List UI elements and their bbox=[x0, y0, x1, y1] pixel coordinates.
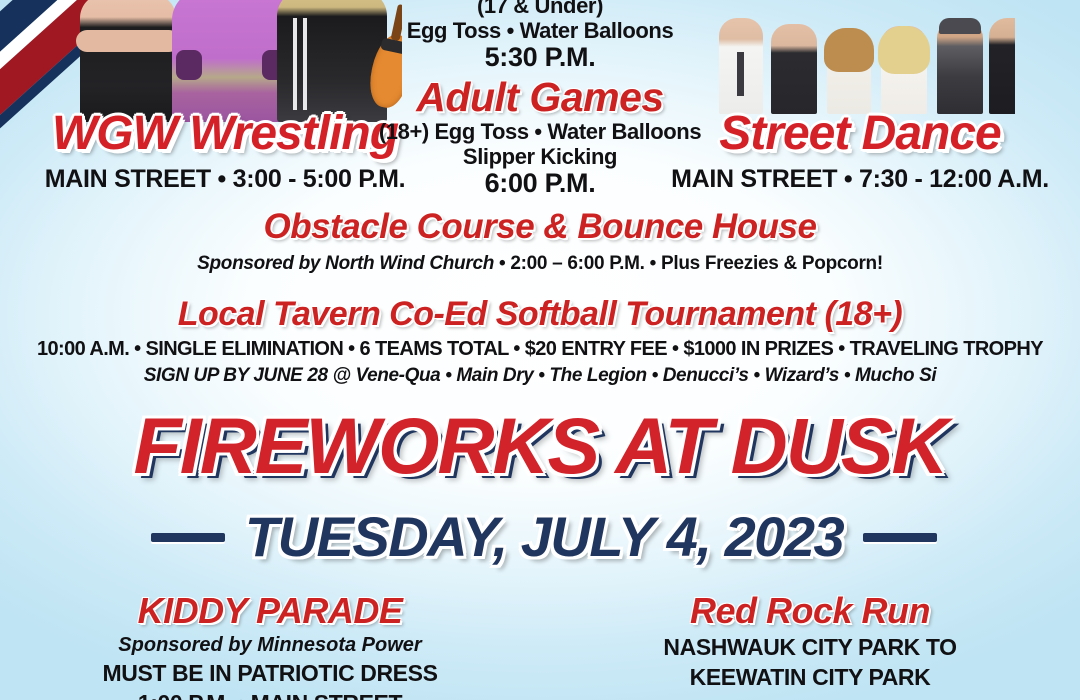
band-photo bbox=[715, 16, 1015, 114]
band-member-2 bbox=[771, 24, 817, 114]
event-poster: WGW Wrestling MAIN STREET • 3:00 - 5:00 … bbox=[0, 0, 1080, 700]
kiddy-parade-time: 1:00 P.M. • MAIN STREET bbox=[0, 690, 540, 700]
band-member-4 bbox=[881, 26, 927, 114]
flat-cap bbox=[939, 18, 981, 34]
obstacle-separator-2: • bbox=[650, 253, 656, 274]
kid-games-time: 5:30 P.M. bbox=[350, 43, 730, 73]
street-dance-section: Street Dance MAIN STREET • 7:30 - 12:00 … bbox=[640, 110, 1080, 194]
obstacle-course-details: Sponsored by North Wind Church • 2:00 – … bbox=[0, 253, 1080, 275]
red-rock-run-section: Red Rock Run NASHWAUK CITY PARK TO KEEWA… bbox=[540, 592, 1080, 700]
wrestler-arms bbox=[76, 30, 180, 52]
red-rock-run-line1: NASHWAUK CITY PARK TO bbox=[540, 634, 1080, 661]
wrestler-figure-2 bbox=[172, 0, 292, 122]
kiddy-parade-dress: MUST BE IN PATRIOTIC DRESS bbox=[0, 660, 540, 687]
obstacle-extra: Plus Freezies & Popcorn! bbox=[661, 253, 883, 274]
softball-signup: SIGN UP BY JUNE 28 @ Vene-Qua • Main Dry… bbox=[0, 365, 1080, 387]
obstacle-sponsor: Sponsored by North Wind Church bbox=[197, 253, 494, 274]
obstacle-course-section: Obstacle Course & Bounce House Sponsored… bbox=[0, 208, 1080, 275]
kid-games-activities: Egg Toss • Water Balloons bbox=[350, 19, 730, 44]
tracksuit-stripe-b bbox=[303, 18, 307, 110]
hair-3 bbox=[824, 28, 874, 72]
date-rule-left bbox=[151, 533, 225, 542]
wrestler-glove-left bbox=[176, 50, 202, 80]
softball-tournament-section: Local Tavern Co-Ed Softball Tournament (… bbox=[0, 296, 1080, 387]
softball-details: 10:00 A.M. • SINGLE ELIMINATION • 6 TEAM… bbox=[0, 338, 1080, 361]
hair-4 bbox=[878, 26, 930, 74]
kiddy-parade-title: KIDDY PARADE bbox=[0, 592, 540, 631]
obstacle-separator-1: • bbox=[499, 253, 505, 274]
tracksuit-stripe-a bbox=[293, 18, 297, 110]
kid-games-age: (17 & Under) bbox=[350, 0, 730, 19]
obstacle-time: 2:00 – 6:00 P.M. bbox=[510, 253, 644, 274]
band-member-3 bbox=[827, 28, 871, 114]
obstacle-course-title: Obstacle Course & Bounce House bbox=[0, 208, 1080, 247]
kiddy-parade-section: KIDDY PARADE Sponsored by Minnesota Powe… bbox=[0, 592, 540, 700]
event-date-row: TUESDAY, JULY 4, 2023 bbox=[0, 508, 1080, 567]
wrestler-figure-1 bbox=[80, 0, 176, 122]
softball-title: Local Tavern Co-Ed Softball Tournament (… bbox=[0, 296, 1080, 333]
necktie bbox=[737, 52, 744, 96]
event-date: TUESDAY, JULY 4, 2023 bbox=[245, 508, 843, 567]
red-rock-run-line2: KEEWATIN CITY PARK bbox=[540, 664, 1080, 691]
red-rock-run-title: Red Rock Run bbox=[540, 592, 1080, 631]
kiddy-parade-sponsor: Sponsored by Minnesota Power bbox=[0, 634, 540, 657]
band-member-5 bbox=[937, 20, 983, 114]
fireworks-headline: FIREWORKS AT DUSK bbox=[0, 406, 1080, 487]
street-dance-details: MAIN STREET • 7:30 - 12:00 A.M. bbox=[640, 165, 1080, 194]
street-dance-logo: Street Dance bbox=[640, 110, 1080, 159]
band-member-6 bbox=[989, 18, 1015, 114]
bottom-events-row: KIDDY PARADE Sponsored by Minnesota Powe… bbox=[0, 592, 1080, 700]
date-rule-right bbox=[863, 533, 937, 542]
